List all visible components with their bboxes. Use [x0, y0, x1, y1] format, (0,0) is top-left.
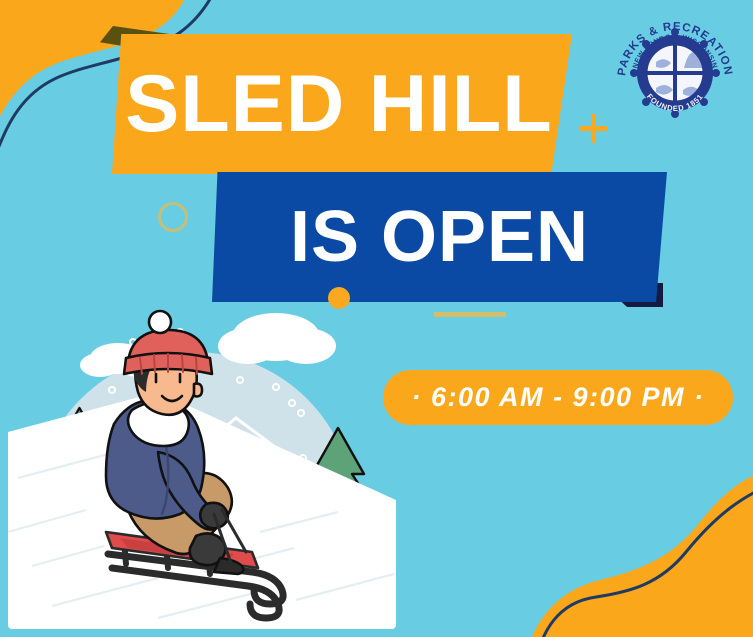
parks-recreation-logo: PARKS & RECREATION NEW LONDON, WISCONSIN… [612, 10, 738, 136]
headline-line-2: IS OPEN [212, 172, 667, 302]
poster-canvas: SLED HILL IS OPEN · 6:00 AM - 9:00 PM · [0, 0, 753, 637]
sledding-illustration [8, 300, 396, 629]
headline-line-1: SLED HILL [112, 34, 572, 174]
cloud-large [218, 313, 336, 364]
orange-headline-banner: SLED HILL [112, 34, 572, 174]
hours-badge: · 6:00 AM - 9:00 PM · [383, 370, 733, 425]
bottom-right-orange-blob [520, 469, 753, 637]
beanie-pompom [149, 311, 171, 333]
ear [194, 384, 202, 397]
bottom-right-navy-curve [532, 478, 753, 637]
orange-plus-icon [579, 114, 608, 143]
orange-dot-icon [328, 287, 350, 309]
gold-ring-icon [158, 202, 188, 232]
blue-headline-banner: IS OPEN [212, 172, 667, 302]
gold-rule-divider [434, 312, 506, 317]
hours-text: · 6:00 AM - 9:00 PM · [411, 382, 704, 413]
